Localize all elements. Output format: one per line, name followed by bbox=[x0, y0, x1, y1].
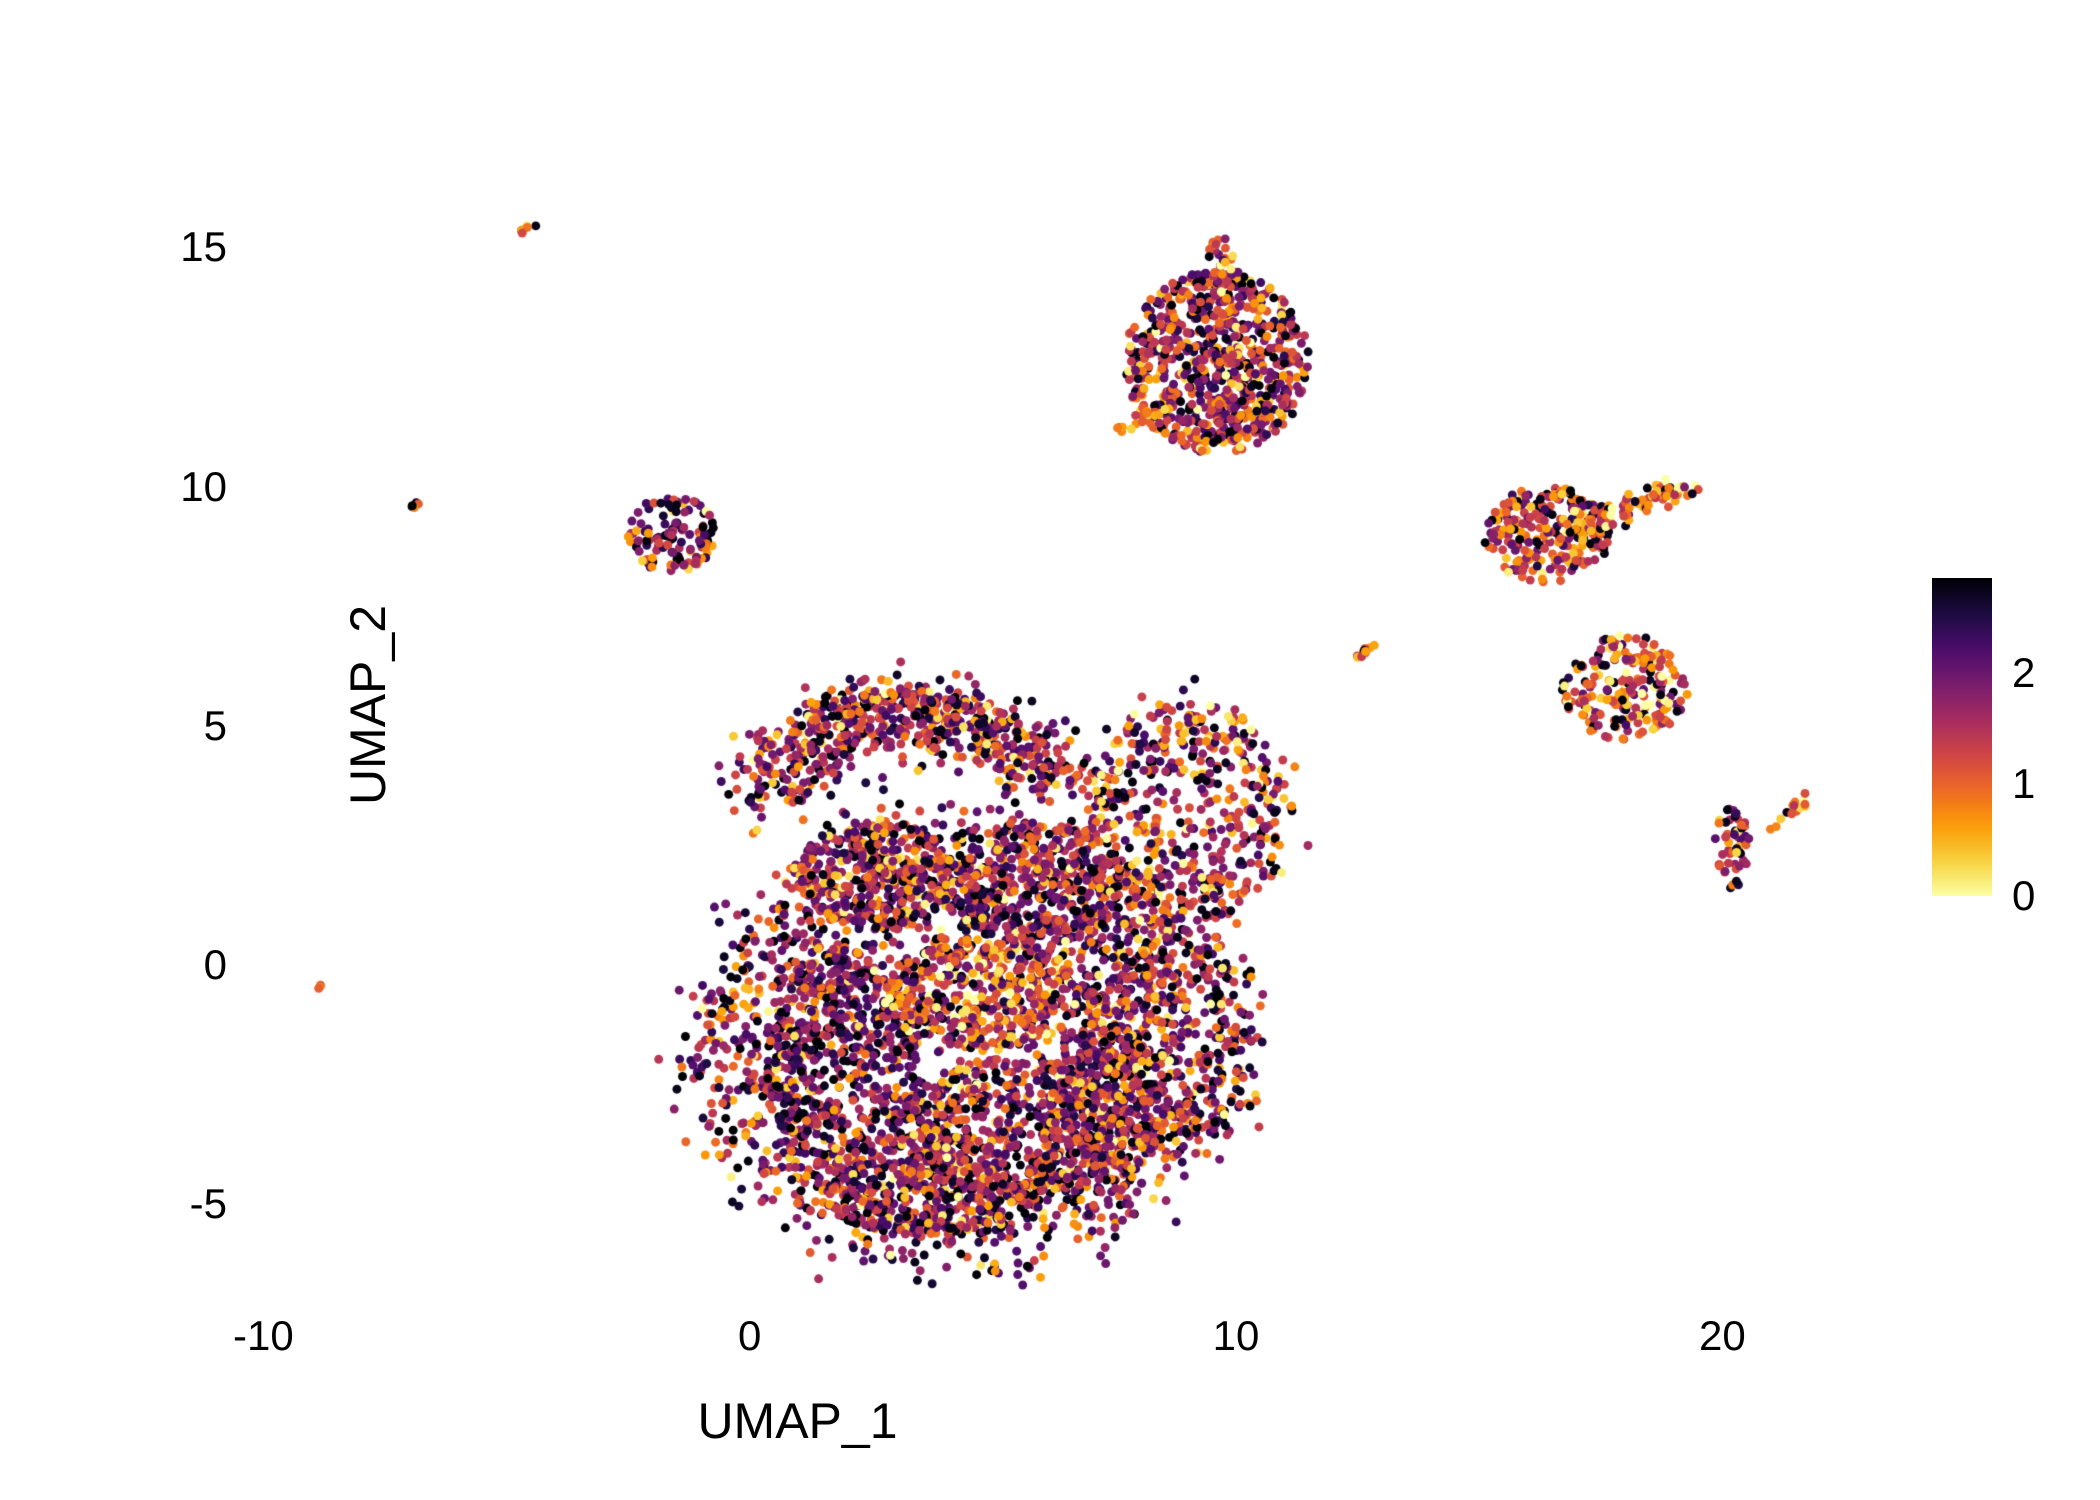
x-tick-2: 10 bbox=[1213, 1312, 1260, 1360]
x-tick-1: 0 bbox=[738, 1312, 761, 1360]
x-tick-0: -10 bbox=[233, 1312, 294, 1360]
colorbar-tickmark bbox=[1977, 1249, 1992, 1252]
y-tick-1: 0 bbox=[204, 941, 227, 989]
colorbar-tick-0: 0 bbox=[2012, 872, 2035, 920]
colorbar-tick-2: 2 bbox=[2012, 649, 2035, 697]
x-axis-title: UMAP_1 bbox=[205, 1392, 1390, 1450]
y-tick-2: 5 bbox=[204, 702, 227, 750]
y-tick-3: 10 bbox=[180, 463, 227, 511]
umap-feature-plot: TOB2 UMAP_1 UMAP_2 -1001020 -5051015 012 bbox=[0, 0, 2100, 1500]
colorbar-tickmark bbox=[1932, 1249, 1947, 1252]
scatter-plot-canvas bbox=[0, 0, 2100, 1500]
x-tick-3: 20 bbox=[1699, 1312, 1746, 1360]
colorbar-tickmark bbox=[1932, 1473, 1947, 1476]
colorbar-tickmark bbox=[1977, 1361, 1992, 1364]
y-tick-4: 15 bbox=[180, 223, 227, 271]
colorbar-tickmark bbox=[1932, 1361, 1947, 1364]
colorbar-tick-1: 1 bbox=[2012, 760, 2035, 808]
y-axis-title: UMAP_2 bbox=[339, 125, 397, 1285]
colorbar-gradient bbox=[1932, 578, 1992, 896]
y-tick-0: -5 bbox=[190, 1180, 227, 1228]
colorbar-tickmark bbox=[1977, 1473, 1992, 1476]
